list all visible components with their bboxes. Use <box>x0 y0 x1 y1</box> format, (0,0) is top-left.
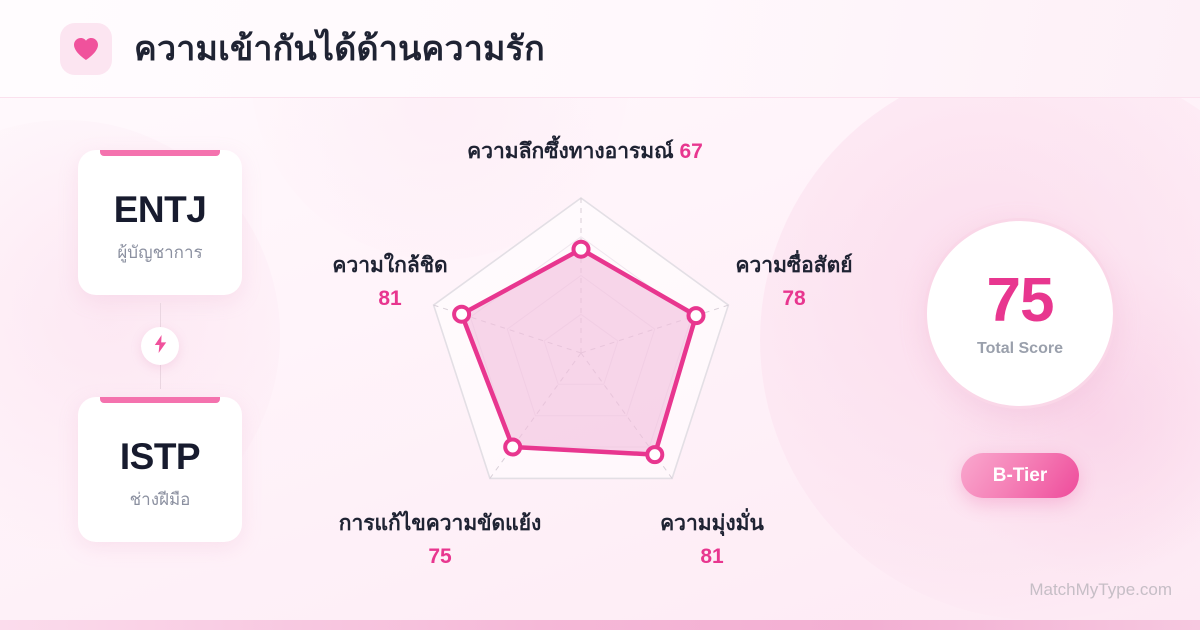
axis-label-text: การแก้ไขความขัดแย้ง <box>339 512 542 535</box>
personality-card-second[interactable]: ISTP ช่างฝีมือ <box>78 397 242 542</box>
axis-label-intimacy: ความใกล้ชิด 81 <box>290 252 490 313</box>
radar-data-point <box>647 447 662 462</box>
axis-value-text: 81 <box>290 285 490 312</box>
heart-icon <box>73 37 99 61</box>
personality-types-column: ENTJ ผู้บัญชาการ ISTP ช่างฝีมือ <box>78 150 242 542</box>
axis-label-loyalty: ความซื่อสัตย์ 78 <box>704 252 884 313</box>
header-icon-container <box>60 23 112 75</box>
personality-name-second: ช่างฝีมือ <box>130 491 191 508</box>
infographic-page: ความเข้ากันได้ด้านความรัก ENTJ ผู้บัญชาก… <box>0 0 1200 630</box>
axis-value-text: 78 <box>704 285 884 312</box>
personality-code-second: ISTP <box>120 438 200 475</box>
axis-label-text: ความมุ่งมั่น <box>660 512 764 535</box>
card-accent-bar <box>100 150 220 156</box>
lightning-bolt-badge <box>141 327 179 365</box>
card-accent-bar <box>100 397 220 403</box>
axis-label-text: ความลึกซึ้งทางอารมณ์ <box>467 140 673 163</box>
site-watermark: MatchMyType.com <box>1029 580 1172 600</box>
axis-label-text: ความใกล้ชิด <box>332 254 447 277</box>
page-header: ความเข้ากันได้ด้านความรัก <box>0 0 1200 98</box>
page-title: ความเข้ากันได้ด้านความรัก <box>134 32 545 66</box>
axis-label-text: ความซื่อสัตย์ <box>735 254 852 277</box>
radar-data-point <box>689 308 704 323</box>
tier-badge: B-Tier <box>961 453 1080 498</box>
bottom-accent-bar <box>0 620 1200 630</box>
axis-label-emotional-depth: ความลึกซึ้งทางอารมณ์ 67 <box>440 138 730 165</box>
radar-data-point <box>505 440 520 455</box>
axis-value-text: 67 <box>679 140 702 163</box>
total-score-caption: Total Score <box>977 341 1063 357</box>
types-connector <box>78 295 242 397</box>
axis-value-text: 81 <box>622 543 802 570</box>
axis-label-commitment: ความมุ่งมั่น 81 <box>622 510 802 571</box>
axis-value-text: 75 <box>295 543 585 570</box>
lightning-bolt-icon <box>154 335 167 358</box>
personality-card-first[interactable]: ENTJ ผู้บัญชาการ <box>78 150 242 295</box>
personality-code-first: ENTJ <box>114 191 207 228</box>
total-score-value: 75 <box>987 270 1054 332</box>
score-column: 75 Total Score B-Tier <box>910 218 1130 498</box>
radar-data-point <box>574 242 589 257</box>
radar-chart: ความลึกซึ้งทางอารมณ์ 67 ความซื่อสัตย์ 78… <box>300 110 865 600</box>
personality-name-first: ผู้บัญชาการ <box>117 244 202 261</box>
total-score-circle: 75 Total Score <box>924 218 1116 409</box>
axis-label-conflict-resolution: การแก้ไขความขัดแย้ง 75 <box>295 510 585 571</box>
